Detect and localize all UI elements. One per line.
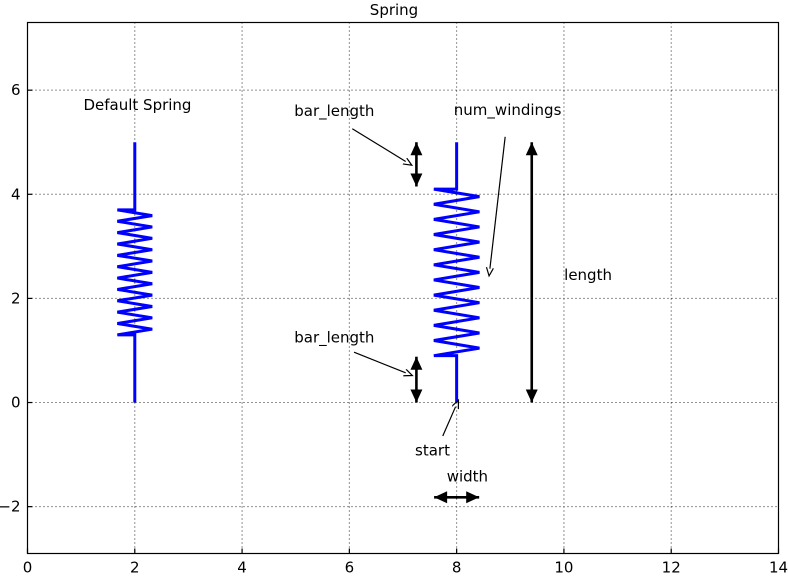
bar-length-bottom-arrow (410, 357, 422, 403)
x-tick-label: 10 (554, 559, 573, 577)
bar-length-bottom-label: bar_length (294, 328, 374, 347)
y-tick-label: 4 (11, 185, 21, 203)
spring-curve (434, 142, 480, 402)
length-label: length (564, 266, 612, 284)
start-label-leader (443, 407, 456, 436)
width-label: width (447, 467, 488, 485)
spring-curves (117, 142, 479, 402)
bar-length-top-label: bar_length (294, 102, 374, 121)
y-tick-label: 0 (11, 394, 21, 412)
chart-title: Spring (370, 1, 418, 19)
bar-length-top-arrow (410, 142, 422, 186)
x-tick-label: 14 (769, 559, 788, 577)
width-arrow (434, 491, 479, 503)
default-spring-label: Default Spring (83, 96, 191, 114)
spring-curve (117, 142, 152, 402)
x-tick-label: 12 (662, 559, 681, 577)
x-tick-label: 0 (23, 559, 33, 577)
bar-length-top-label-leader (352, 129, 405, 162)
spring-figure: 02468101214−20246 Default Springbar_leng… (0, 0, 788, 577)
y-tick-label: −2 (0, 498, 21, 516)
x-tick-label: 2 (130, 559, 140, 577)
y-tick-label: 6 (11, 81, 21, 99)
x-tick-label: 4 (237, 559, 247, 577)
length-arrow (526, 142, 538, 402)
x-tick-label: 8 (452, 559, 462, 577)
bar-length-bottom-label-leader (354, 352, 406, 373)
axis-tick-labels: 02468101214−20246 (0, 81, 788, 576)
plot-canvas: 02468101214−20246 Default Springbar_leng… (0, 0, 788, 577)
y-tick-label: 2 (11, 289, 21, 307)
num-windings-label-leader (490, 137, 505, 269)
x-tick-label: 6 (345, 559, 355, 577)
annotation-leaders (352, 129, 505, 436)
num-windings-label: num_windings (454, 101, 562, 120)
start-label: start (415, 441, 450, 459)
